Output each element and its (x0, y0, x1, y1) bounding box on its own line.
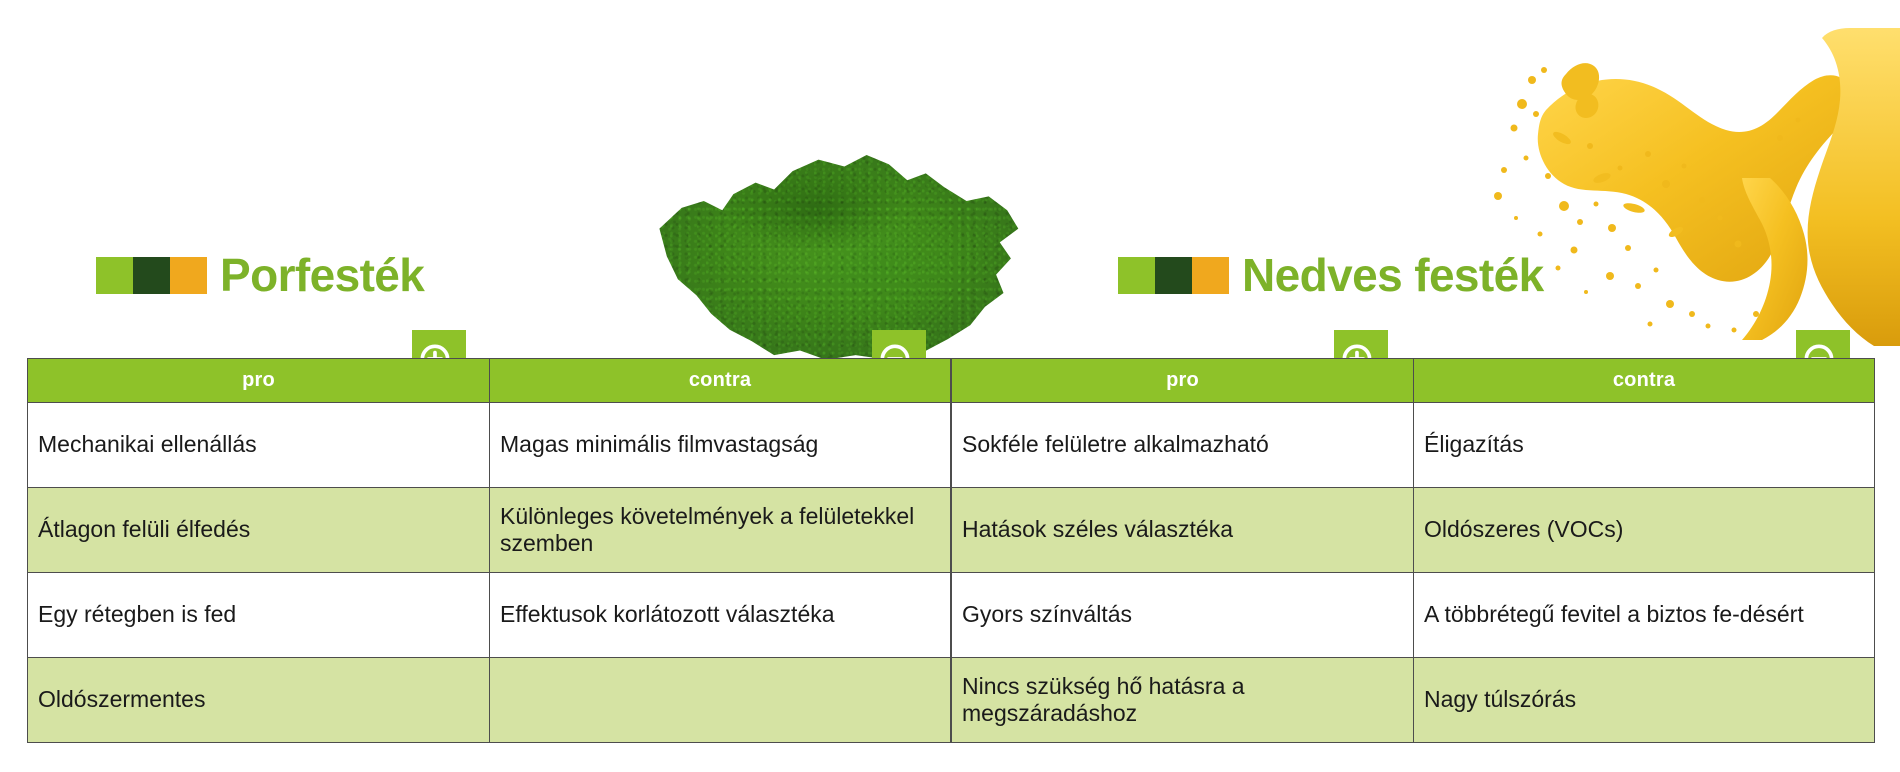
swatch-light-green (1118, 257, 1155, 294)
section-title-label: Nedves festék (1242, 248, 1544, 302)
table-row: Sokféle felületre alkalmazható Éligazítá… (952, 403, 1875, 488)
cell-contra-empty (490, 658, 951, 743)
section-title-label: Porfesték (220, 248, 424, 302)
cell-pro: Egy rétegben is fed (28, 573, 490, 658)
cell-pro: Sokféle felületre alkalmazható (952, 403, 1414, 488)
table-row: Egy rétegben is fed Effektusok korlátozo… (28, 573, 951, 658)
cell-pro: Oldószermentes (28, 658, 490, 743)
table-row: Oldószermentes (28, 658, 951, 743)
section-title-porfestek: Porfesték (96, 248, 424, 302)
cell-contra: Oldószeres (VOCs) (1414, 488, 1875, 573)
swatch-dark-green (133, 257, 170, 294)
swatch-dark-green (1155, 257, 1192, 294)
cell-contra: Effektusok korlátozott választéka (490, 573, 951, 658)
swatch-orange (170, 257, 207, 294)
green-powder-image (652, 132, 1022, 362)
table-row: Mechanikai ellenállás Magas minimális fi… (28, 403, 951, 488)
swatch-orange (1192, 257, 1229, 294)
table-row: Átlagon felüli élfedés Különleges követe… (28, 488, 951, 573)
comparison-table-porfestek: pro contra Mechanikai ellenállás Magas m… (27, 358, 951, 743)
column-header-contra[interactable]: contra (490, 359, 951, 403)
table-row: Gyors színváltás A többrétegű fevitel a … (952, 573, 1875, 658)
column-header-pro[interactable]: pro (28, 359, 490, 403)
cell-pro: Nincs szükség hő hatásra a megszáradásho… (952, 658, 1414, 743)
cell-contra: Különleges követelmények a felületekkel … (490, 488, 951, 573)
cell-pro: Gyors színváltás (952, 573, 1414, 658)
powder-grain-texture (652, 132, 1022, 362)
table-row: Nincs szükség hő hatásra a megszáradásho… (952, 658, 1875, 743)
section-title-nedves-festek: Nedves festék (1118, 248, 1544, 302)
swatch-light-green (96, 257, 133, 294)
column-header-contra[interactable]: contra (1414, 359, 1875, 403)
cell-contra: A többrétegű fevitel a biztos fe-désért (1414, 573, 1875, 658)
powder-blob (652, 132, 1022, 362)
cell-pro: Átlagon felüli élfedés (28, 488, 490, 573)
cell-pro: Mechanikai ellenállás (28, 403, 490, 488)
comparison-table-nedves-festek: pro contra Sokféle felületre alkalmazhat… (951, 358, 1875, 743)
column-header-pro[interactable]: pro (952, 359, 1414, 403)
cell-contra: Nagy túlszórás (1414, 658, 1875, 743)
cell-contra: Magas minimális filmvastagság (490, 403, 951, 488)
brand-swatches (1118, 257, 1229, 294)
brand-swatches (96, 257, 207, 294)
cell-pro: Hatások széles választéka (952, 488, 1414, 573)
cell-contra: Éligazítás (1414, 403, 1875, 488)
comparison-tables: pro contra Mechanikai ellenállás Magas m… (27, 358, 1873, 743)
table-row: Hatások széles választéka Oldószeres (VO… (952, 488, 1875, 573)
table-header-row: pro contra (28, 359, 951, 403)
table-header-row: pro contra (952, 359, 1875, 403)
